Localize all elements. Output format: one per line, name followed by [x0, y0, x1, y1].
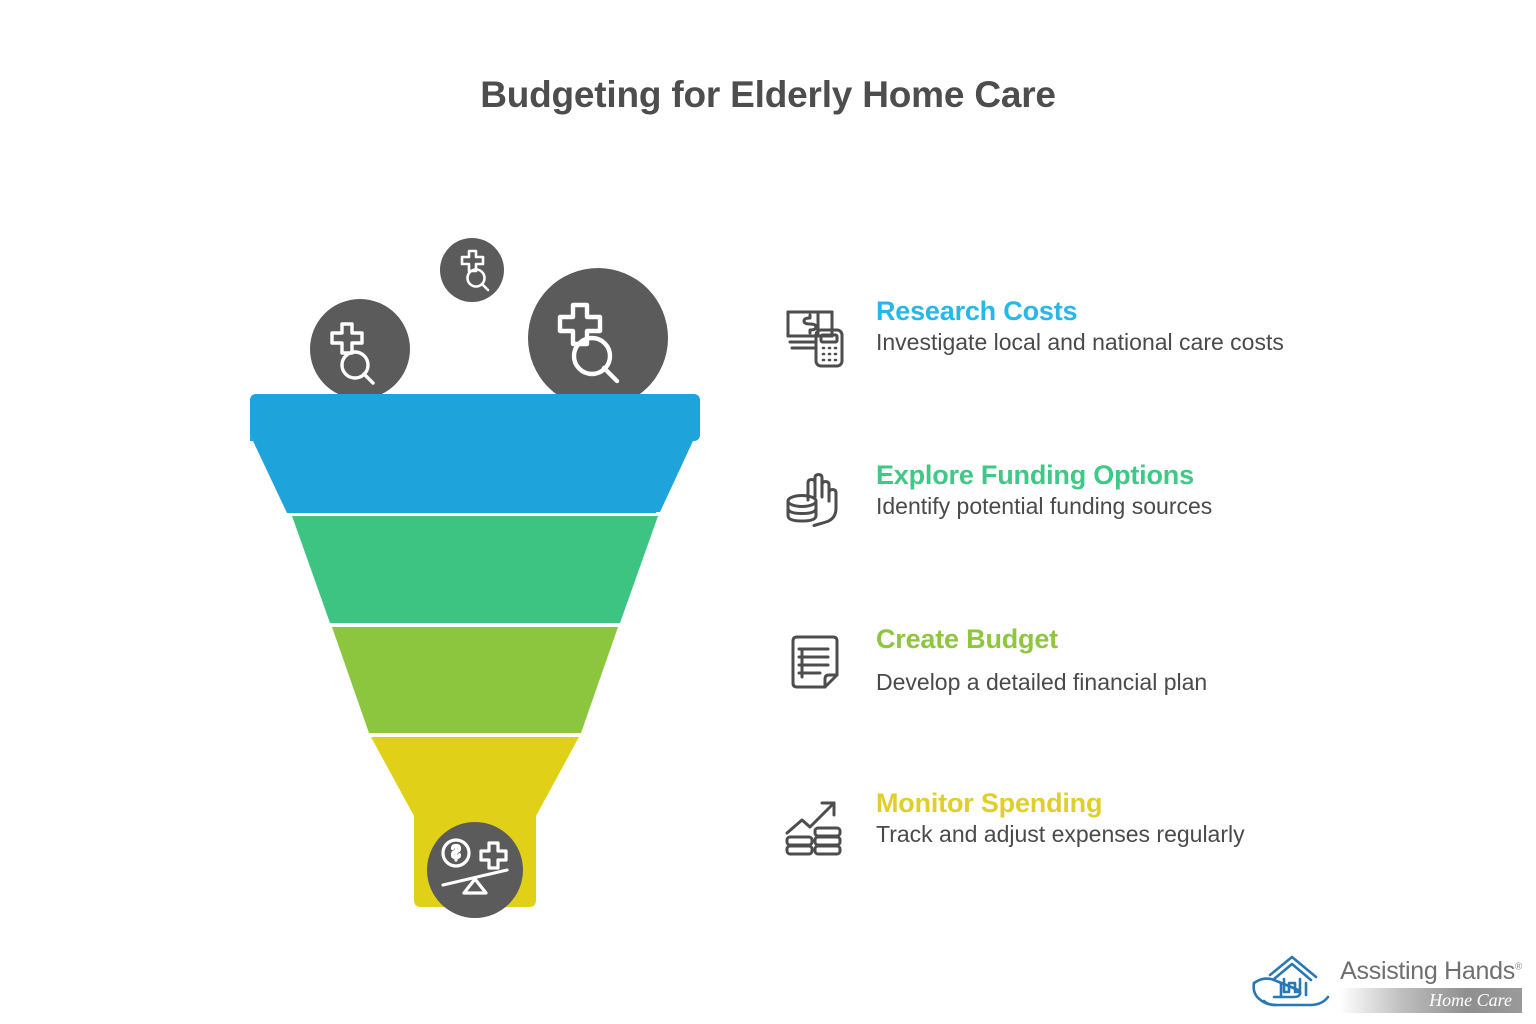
- page-title: Budgeting for Elderly Home Care: [0, 74, 1536, 116]
- step-item-research-costs: Research Costs Investigate local and nat…: [782, 296, 1382, 436]
- hand-holding-house-icon: [1250, 951, 1336, 1020]
- step-text: Research Costs Investigate local and nat…: [860, 296, 1284, 358]
- step-text: Explore Funding Options Identify potenti…: [860, 460, 1212, 522]
- steps-list: Research Costs Investigate local and nat…: [782, 296, 1382, 952]
- cost-balance-bubble: [427, 822, 523, 918]
- step-text: Monitor Spending Track and adjust expens…: [860, 788, 1245, 850]
- medical-search-bubble-large: [528, 268, 668, 408]
- step-item-create-budget: Create Budget Develop a detailed financi…: [782, 624, 1382, 764]
- brand-logo: Assisting Hands® Home Care: [1250, 951, 1522, 1020]
- funnel-band-explore-funding-options: [292, 516, 658, 623]
- step-description: Track and adjust expenses regularly: [876, 820, 1245, 849]
- money-calculator-icon: [782, 296, 860, 375]
- coins-hand-icon: [782, 460, 860, 539]
- step-heading: Monitor Spending: [876, 788, 1245, 818]
- logo-subtitle: Home Care: [1429, 990, 1512, 1010]
- step-heading: Research Costs: [876, 296, 1284, 326]
- funnel-top-bubbles: [310, 238, 668, 408]
- document-lines-icon: [782, 624, 860, 703]
- logo-subtitle-bar: Home Care: [1340, 988, 1522, 1013]
- step-heading: Explore Funding Options: [876, 460, 1212, 490]
- step-item-monitor-spending: Monitor Spending Track and adjust expens…: [782, 788, 1382, 928]
- funnel-diagram: [200, 215, 800, 935]
- medical-search-bubble-small: [440, 238, 504, 302]
- step-description: Develop a detailed financial plan: [876, 668, 1207, 697]
- growth-coins-icon: [782, 788, 860, 867]
- logo-wordmark: Assisting Hands® Home Care: [1340, 959, 1522, 1013]
- step-description: Identify potential funding sources: [876, 492, 1212, 521]
- bubble-circle: [427, 822, 523, 918]
- step-item-explore-funding-options: Explore Funding Options Identify potenti…: [782, 460, 1382, 600]
- registered-mark: ®: [1515, 961, 1522, 972]
- funnel-band-create-budget: [332, 627, 618, 733]
- bubble-circle: [310, 299, 410, 399]
- logo-name-text: Assisting Hands: [1340, 957, 1515, 985]
- funnel-graphic: [200, 215, 800, 935]
- logo-name: Assisting Hands®: [1340, 959, 1522, 984]
- step-text: Create Budget Develop a detailed financi…: [860, 624, 1207, 698]
- step-description: Investigate local and national care cost…: [876, 328, 1284, 357]
- funnel-band-research-costs-body: [250, 394, 700, 512]
- step-heading: Create Budget: [876, 624, 1207, 654]
- medical-search-bubble-medium: [310, 299, 410, 399]
